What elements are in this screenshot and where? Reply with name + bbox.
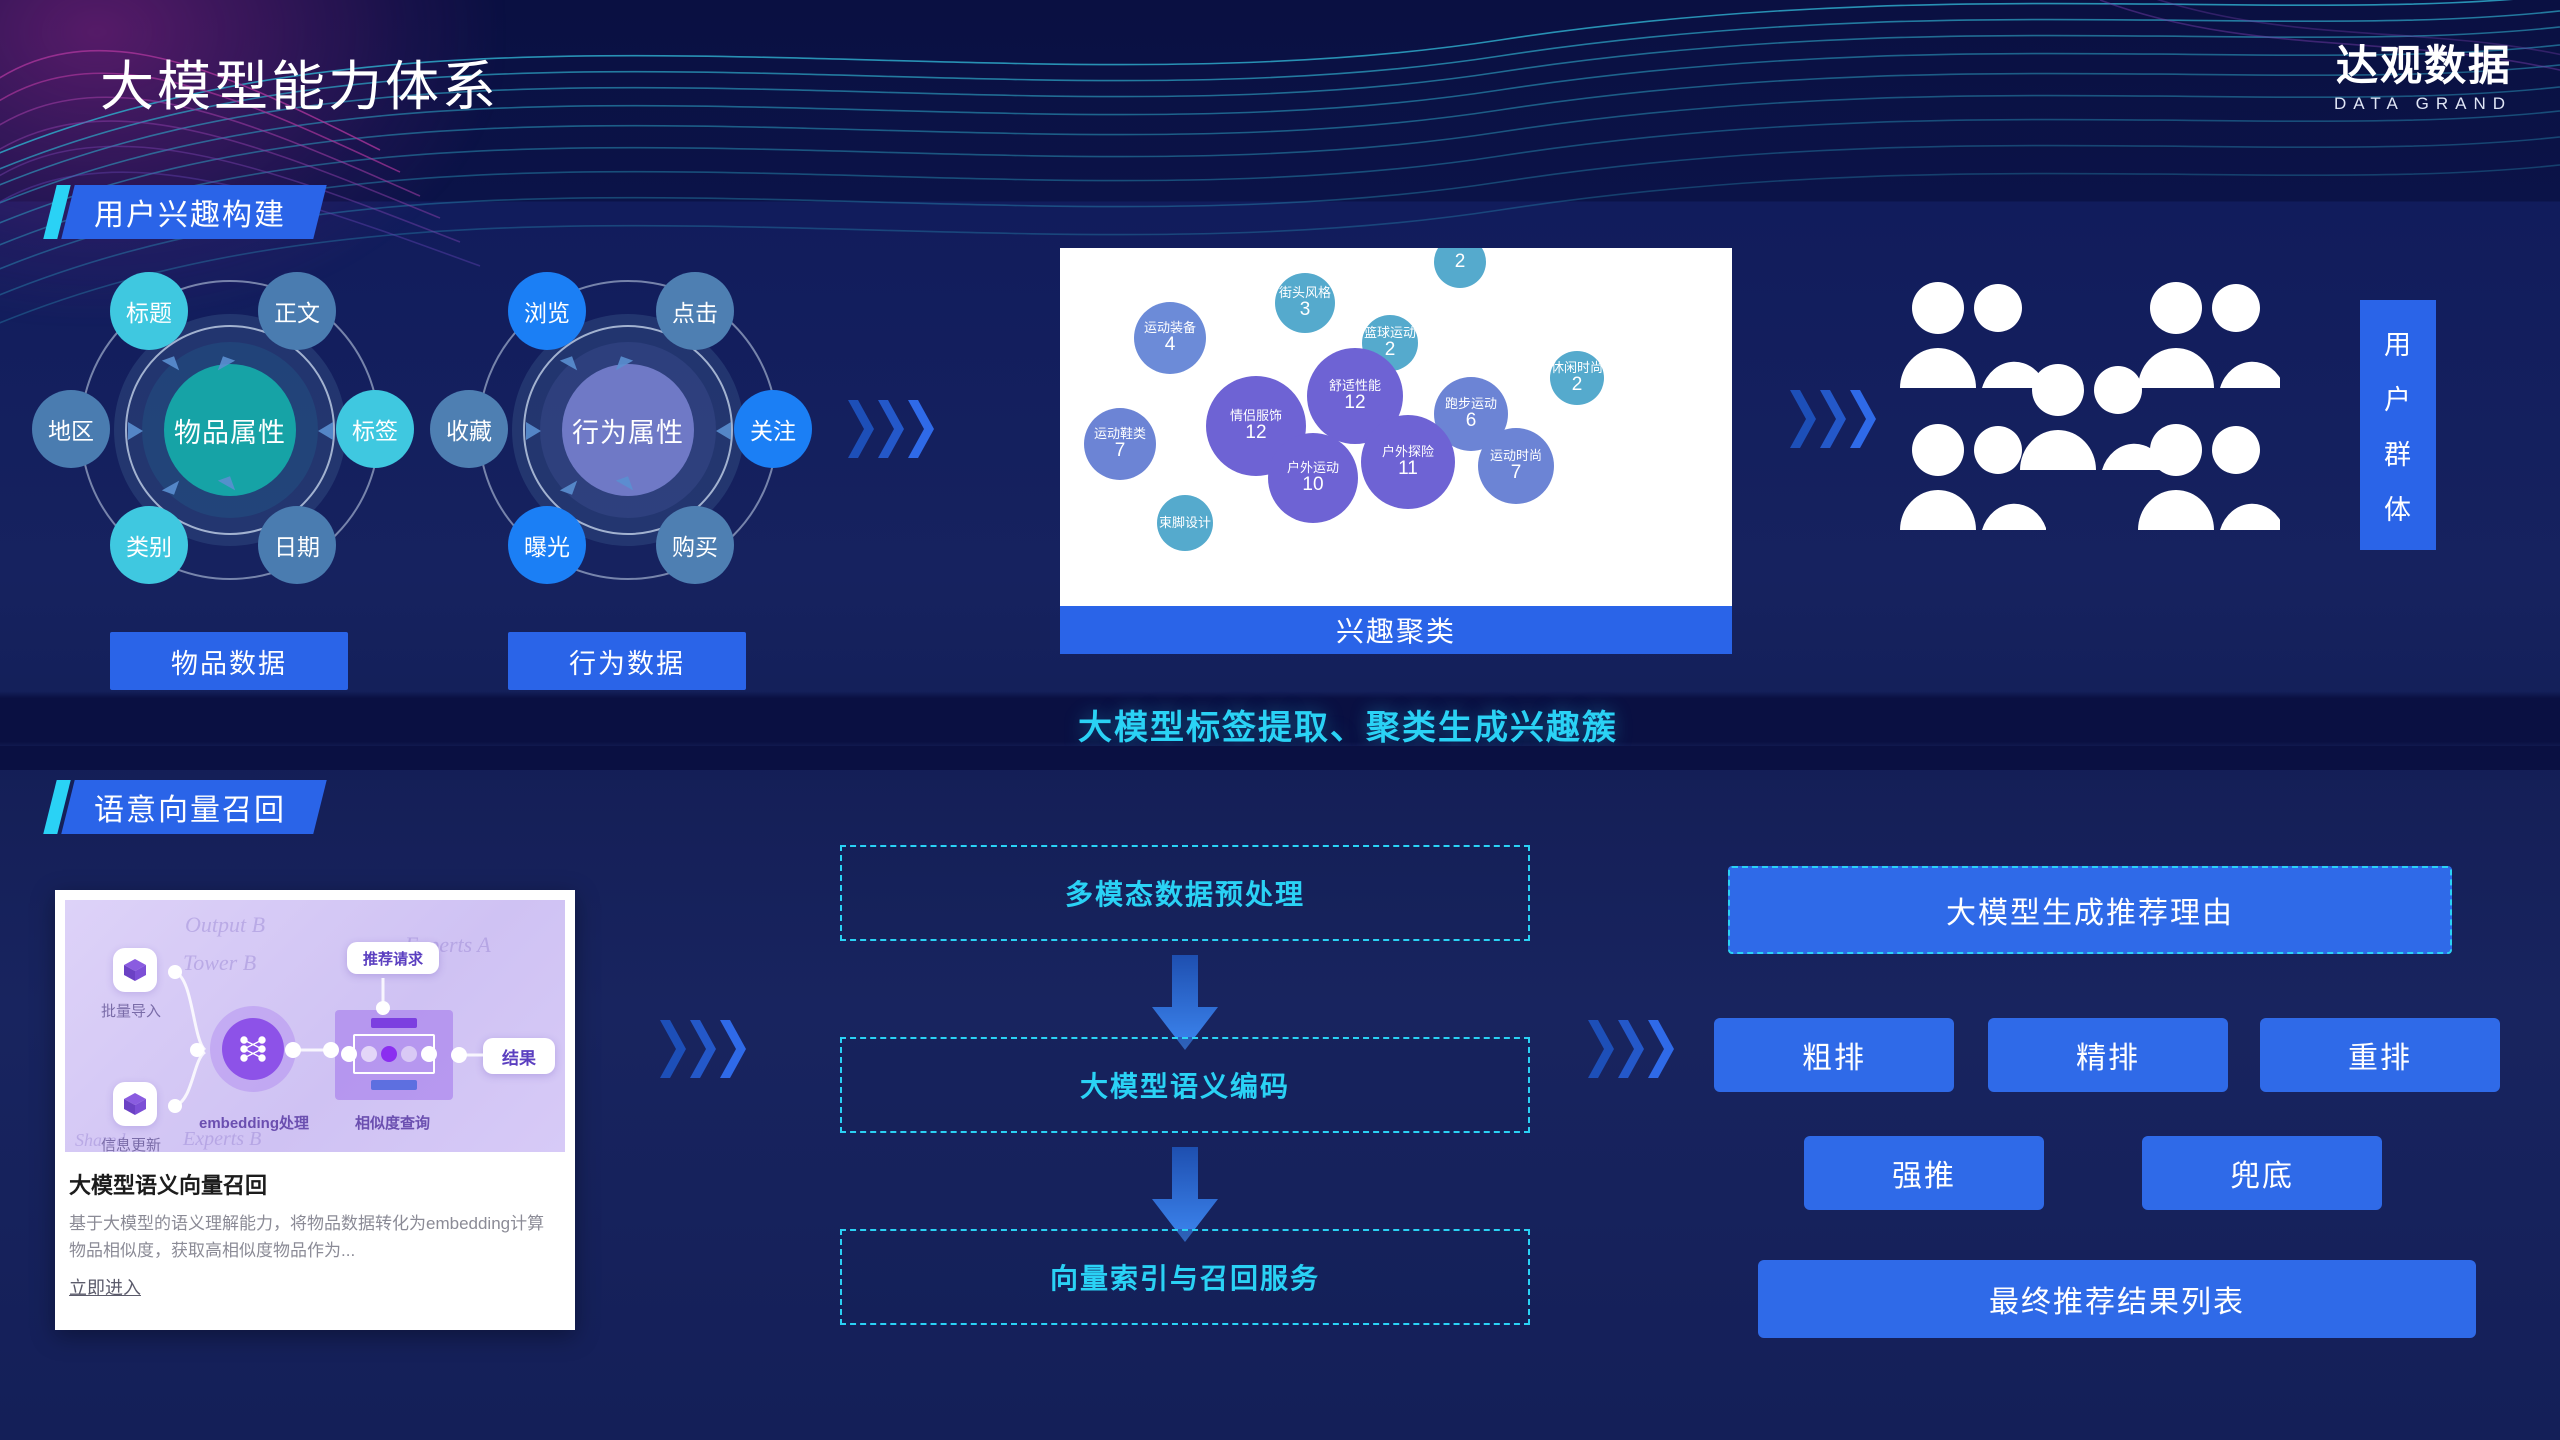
down-arrow-icon: [1150, 1147, 1220, 1242]
bubble-value: 12: [1344, 393, 1365, 413]
bubble-value: 6: [1466, 411, 1477, 431]
down-arrow-icon: [1150, 955, 1220, 1050]
section-banner-user-interest: 用户兴趣构建: [50, 185, 320, 239]
rank-button-rerank[interactable]: 重排: [2260, 1018, 2500, 1092]
bubble-value: 7: [1115, 441, 1126, 461]
bubble-name: 篮球运动: [1364, 326, 1416, 340]
chevron-right-icon: [690, 1020, 716, 1078]
flow-step-label: 大模型语义编码: [1080, 1065, 1290, 1105]
pill-behavior-data[interactable]: 行为数据: [508, 632, 746, 690]
chevron-right-icon: [660, 1020, 686, 1078]
bubble-name: 舒适性能: [1329, 379, 1381, 393]
logo-text-en: DATA GRAND: [2334, 94, 2512, 114]
generate-reason-button[interactable]: 大模型生成推荐理由: [1728, 866, 2452, 954]
wheel-node-behavior-1[interactable]: 点击: [656, 272, 734, 350]
chevron-right-icon: [1618, 1020, 1644, 1078]
node-label: 标题: [126, 294, 172, 328]
bubble-运动时尚[interactable]: 运动时尚7: [1478, 428, 1554, 504]
node-label: 浏览: [524, 294, 570, 328]
wheel-node-behavior-4[interactable]: 曝光: [508, 506, 586, 584]
node-label: 曝光: [524, 528, 570, 562]
button-label: 强推: [1892, 1151, 1956, 1195]
vlabel-char: 体: [2384, 488, 2412, 527]
flow-step-label: 多模态数据预处理: [1065, 873, 1305, 913]
flow-step-1[interactable]: 大模型语义编码: [840, 1037, 1530, 1133]
chevron-right-icon: [908, 400, 934, 458]
rank-button-fine[interactable]: 精排: [1988, 1018, 2228, 1092]
banner-plate: 用户兴趣构建: [61, 185, 326, 239]
wheel-node-behavior-2[interactable]: 关注: [734, 390, 812, 468]
chevron-group-1: [848, 400, 934, 458]
semantic-recall-card[interactable]: Output B Tower B Experts A Experts B Sha…: [55, 890, 575, 1330]
pill-item-data[interactable]: 物品数据: [110, 632, 348, 690]
pill-label: 物品数据: [171, 642, 287, 681]
bubble-户外运动[interactable]: 户外运动10: [1268, 433, 1358, 523]
bubble-value: 2: [1572, 375, 1583, 395]
node-label: 关注: [750, 412, 796, 446]
bubble-束脚设计[interactable]: 束脚设计: [1157, 495, 1213, 551]
pill-label: 行为数据: [569, 642, 685, 681]
bubble-name: 跑步运动: [1445, 397, 1497, 411]
bubble-户外探险[interactable]: 户外探险11: [1361, 415, 1455, 509]
slide-root: 大模型能力体系 达观数据 DATA GRAND 用户兴趣构建 物品属性 标题 正…: [0, 0, 2560, 1440]
bubble-name: 户外探险: [1382, 445, 1434, 459]
section-banner-semantic-recall: 语意向量召回: [50, 780, 320, 834]
chevron-right-icon: [1588, 1020, 1614, 1078]
arrow-marker-icon: [128, 422, 143, 440]
wheel-center-label: 行为属性: [572, 411, 684, 450]
button-label: 精排: [2076, 1033, 2140, 1077]
wheel-node-item-0[interactable]: 标题: [110, 272, 188, 350]
wheel-node-behavior-5[interactable]: 收藏: [430, 390, 508, 468]
bubble-name: 街头风格: [1279, 286, 1331, 300]
chevron-group-4: [1588, 1020, 1674, 1078]
button-label: 粗排: [1802, 1033, 1866, 1077]
chevron-group-2: [1790, 390, 1876, 448]
rank-button-coarse[interactable]: 粗排: [1714, 1018, 1954, 1092]
user-group-icon: [1890, 270, 2280, 550]
node-label: 收藏: [446, 412, 492, 446]
wheel-center-label: 物品属性: [174, 411, 286, 450]
bubble-value: 4: [1165, 335, 1176, 355]
vlabel-char: 群: [2384, 433, 2412, 472]
card-diagram-links: [65, 900, 565, 1152]
wheel-node-item-4[interactable]: 类别: [110, 506, 188, 584]
node-label: 日期: [274, 528, 320, 562]
bubble-value: 2: [1385, 340, 1396, 360]
final-result-button[interactable]: 最终推荐结果列表: [1758, 1260, 2476, 1338]
chevron-right-icon: [1850, 390, 1876, 448]
wheel-node-behavior-3[interactable]: 购买: [656, 506, 734, 584]
push-button-strong[interactable]: 强推: [1804, 1136, 2044, 1210]
button-label: 最终推荐结果列表: [1989, 1277, 2245, 1321]
bubble-name: 束脚设计: [1159, 516, 1211, 530]
section-divider: [0, 746, 2560, 770]
node-label: 正文: [274, 294, 320, 328]
vlabel-char: 用: [2384, 323, 2412, 362]
node-label: 类别: [126, 528, 172, 562]
bubble-运动装备[interactable]: 运动装备4: [1134, 302, 1206, 374]
banner-plate: 语意向量召回: [61, 780, 326, 834]
interest-cluster-chart: 运动装备4街头风格32篮球运动2情侣服饰12舒适性能12跑步运动6休闲时尚2运动…: [1060, 248, 1732, 654]
flow-step-2[interactable]: 向量索引与召回服务: [840, 1229, 1530, 1325]
chart-caption: 兴趣聚类: [1060, 606, 1732, 654]
arrow-marker-icon: [526, 422, 541, 440]
node-label: 地区: [48, 412, 94, 446]
bubble-name: 运动鞋类: [1094, 427, 1146, 441]
arrow-marker-icon: [318, 422, 333, 440]
node-label: 购买: [672, 528, 718, 562]
bubble-unnamed[interactable]: 2: [1434, 248, 1486, 288]
wheel-node-item-3[interactable]: 日期: [258, 506, 336, 584]
button-label: 兜底: [2230, 1151, 2294, 1195]
wheel-node-behavior-0[interactable]: 浏览: [508, 272, 586, 350]
tagline-text: 大模型标签提取、聚类生成兴趣簇: [1078, 700, 1618, 749]
push-button-fallback[interactable]: 兜底: [2142, 1136, 2382, 1210]
bubble-name: 运动装备: [1144, 321, 1196, 335]
bubble-value: 11: [1398, 459, 1418, 479]
chevron-right-icon: [1820, 390, 1846, 448]
vlabel-char: 户: [2384, 378, 2412, 417]
section-banner-label: 语意向量召回: [94, 785, 286, 829]
node-label: 点击: [672, 294, 718, 328]
card-enter-link[interactable]: 立即进入: [69, 1274, 141, 1300]
page-title: 大模型能力体系: [100, 42, 499, 121]
flow-step-label: 向量索引与召回服务: [1050, 1257, 1320, 1297]
card-title: 大模型语义向量召回: [69, 1168, 561, 1200]
card-description: 基于大模型的语义理解能力，将物品数据转化为embedding计算物品相似度，获取…: [69, 1210, 561, 1264]
user-group-vertical-label: 用 户 群 体: [2360, 300, 2436, 550]
bubble-name: 运动时尚: [1490, 449, 1542, 463]
chevron-right-icon: [848, 400, 874, 458]
chevron-right-icon: [878, 400, 904, 458]
logo-text-cn: 达观数据: [2334, 44, 2512, 88]
bubble-value: 2: [1455, 252, 1466, 272]
chevron-right-icon: [1648, 1020, 1674, 1078]
button-label: 大模型生成推荐理由: [1946, 888, 2234, 932]
chevron-group-3: [660, 1020, 746, 1078]
wheel-node-item-1[interactable]: 正文: [258, 272, 336, 350]
bubble-name: 情侣服饰: [1230, 409, 1282, 423]
chevron-right-icon: [1790, 390, 1816, 448]
arrow-marker-icon: [716, 422, 731, 440]
flow-step-0[interactable]: 多模态数据预处理: [840, 845, 1530, 941]
chevron-right-icon: [720, 1020, 746, 1078]
wheel-node-item-2[interactable]: 标签: [336, 390, 414, 468]
bubble-休闲时尚[interactable]: 休闲时尚2: [1550, 351, 1604, 405]
button-label: 重排: [2348, 1033, 2412, 1077]
card-diagram-image: Output B Tower B Experts A Experts B Sha…: [65, 900, 565, 1152]
bubble-value: 3: [1300, 300, 1311, 320]
bubble-value: 10: [1302, 475, 1323, 495]
bubble-value: 7: [1511, 463, 1522, 483]
bubble-value: 12: [1245, 423, 1266, 443]
bubble-name: 户外运动: [1287, 461, 1339, 475]
bubble-街头风格[interactable]: 街头风格3: [1275, 273, 1335, 333]
brand-logo: 达观数据 DATA GRAND: [2334, 44, 2512, 114]
section-banner-label: 用户兴趣构建: [94, 190, 286, 234]
wheel-node-item-5[interactable]: 地区: [32, 390, 110, 468]
bubble-运动鞋类[interactable]: 运动鞋类7: [1084, 408, 1156, 480]
bubble-name: 休闲时尚: [1551, 361, 1603, 375]
node-label: 标签: [352, 412, 398, 446]
